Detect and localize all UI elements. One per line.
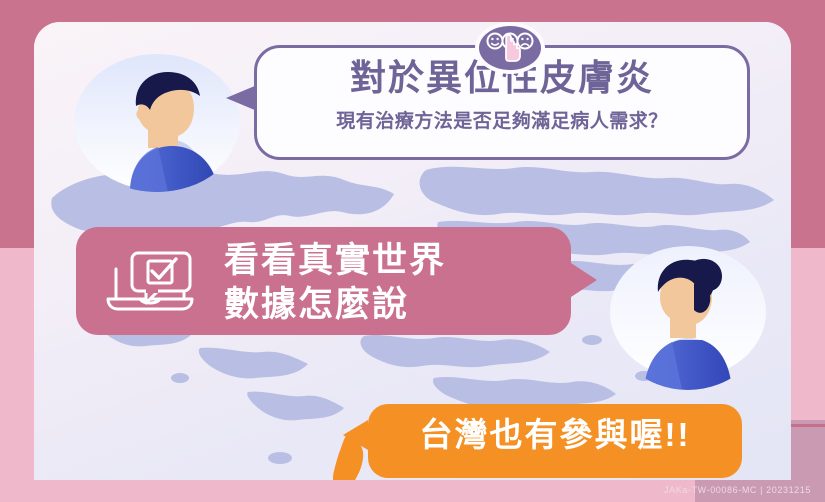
bubble-tail-left-icon: [343, 420, 368, 450]
laptop-checklist-icon: [102, 249, 198, 315]
data-banner-line2: 數據怎麼說: [224, 283, 446, 327]
poster-canvas: 對於異位性皮膚炎 現有治療方法是否足夠滿足病人需求？: [0, 0, 825, 502]
question-subtitle: 現有治療方法是否足夠滿足病人需求？: [257, 111, 747, 134]
female-profile-avatar: [608, 240, 768, 390]
data-banner-line1: 看看真實世界: [224, 239, 446, 283]
male-profile-avatar: [72, 52, 242, 192]
taiwan-participation-banner[interactable]: 台灣也有參與喔!!: [368, 404, 742, 478]
three-smileys-survey-icon: [473, 20, 547, 76]
data-banner-text: 看看真實世界 數據怎麼說: [224, 239, 446, 327]
bubble-tail-right-icon: [571, 263, 597, 297]
bubble-tail-left-icon: [226, 85, 257, 111]
taiwan-banner-text: 台灣也有參與喔!!: [368, 418, 742, 451]
footer-reference-code: JAKa-TW-00086-MC | 20231215: [664, 485, 811, 495]
real-world-data-banner[interactable]: 看看真實世界 數據怎麼說: [76, 227, 571, 335]
